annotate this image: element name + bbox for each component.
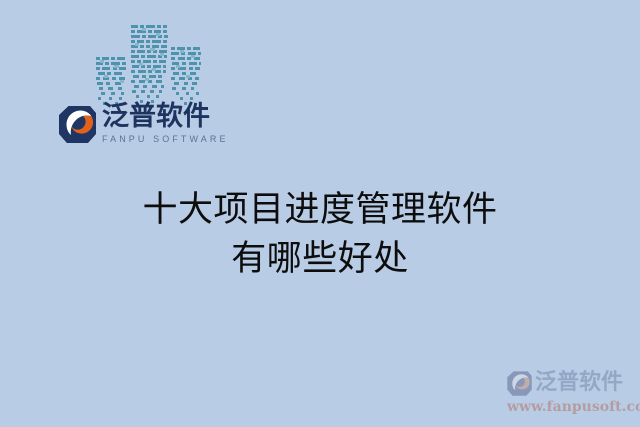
page-title: 十大项目进度管理软件 有哪些好处 [0,186,640,284]
brand-logo: 泛普软件 FANPU SOFTWARE [57,102,229,145]
watermark-name-cn: 泛普软件 [535,371,623,395]
page-title-line-2: 有哪些好处 [0,235,640,284]
watermark-brand-row: 泛普软件 [506,368,640,398]
page-banner: 泛普软件 FANPU SOFTWARE 十大项目进度管理软件 有哪些好处 泛普软… [0,0,640,427]
page-title-line-1: 十大项目进度管理软件 [0,186,640,235]
logo-name-cn: 泛普软件 [102,102,229,132]
watermark: 泛普软件 www.fanpusoft.com [506,368,640,418]
watermark-url: www.fanpusoft.com [507,399,640,415]
fanpu-watermark-mark-icon [506,370,533,397]
pixel-cityscape-graphic [90,20,205,108]
logo-name-en: FANPU SOFTWARE [102,133,229,145]
fanpu-logo-mark-icon [57,104,98,145]
